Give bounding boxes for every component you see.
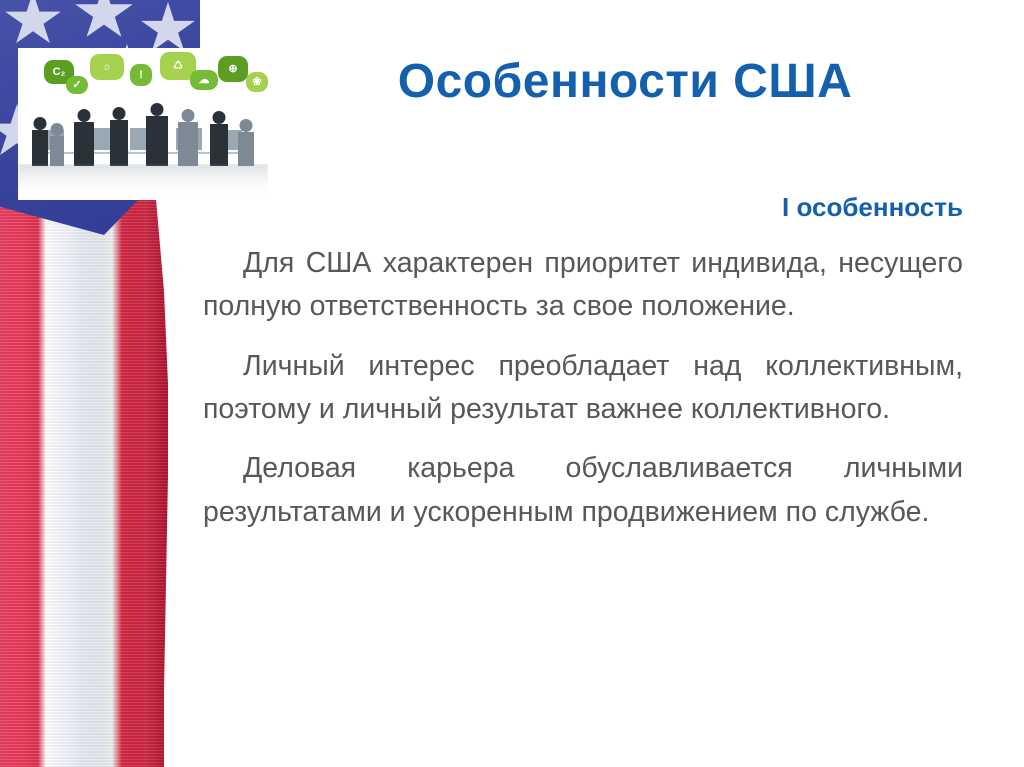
- person-silhouette: [50, 136, 64, 166]
- floor-reflection: [18, 164, 268, 200]
- leaf-icon: ❀: [246, 72, 268, 92]
- exclamation-icon: !: [130, 64, 152, 86]
- person-silhouette: [32, 130, 48, 166]
- body-paragraph: Деловая карьера обуславливается личными …: [203, 447, 963, 534]
- person-silhouette: [178, 122, 198, 166]
- person-silhouette: [146, 116, 168, 166]
- body-paragraph: Для США характерен приоритет индивида, н…: [203, 242, 963, 329]
- person-silhouette: [74, 122, 94, 166]
- section-subtitle: I особенность: [280, 192, 963, 223]
- flag-star-icon: [4, 0, 62, 48]
- body-text-block: Для США характерен приоритет индивида, н…: [203, 242, 963, 534]
- person-silhouette: [238, 132, 254, 166]
- presentation-slide: C₂ ✓ ☼ ! ♺ ☁ ⊕ ❀ Особенност: [0, 0, 1024, 767]
- conference-photo: C₂ ✓ ☼ ! ♺ ☁ ⊕ ❀: [18, 48, 268, 200]
- page-title: Особенности США: [280, 56, 970, 109]
- lightbulb-icon: ☼: [90, 54, 124, 80]
- check-icon: ✓: [66, 76, 88, 94]
- cloud-icon: ☁: [190, 70, 218, 90]
- people-silhouettes: [18, 96, 268, 166]
- flag-star-icon: [74, 0, 134, 42]
- globe-icon: ⊕: [218, 56, 248, 82]
- person-silhouette: [110, 120, 128, 166]
- person-silhouette: [210, 124, 228, 166]
- body-paragraph: Личный интерес преобладает над коллектив…: [203, 345, 963, 432]
